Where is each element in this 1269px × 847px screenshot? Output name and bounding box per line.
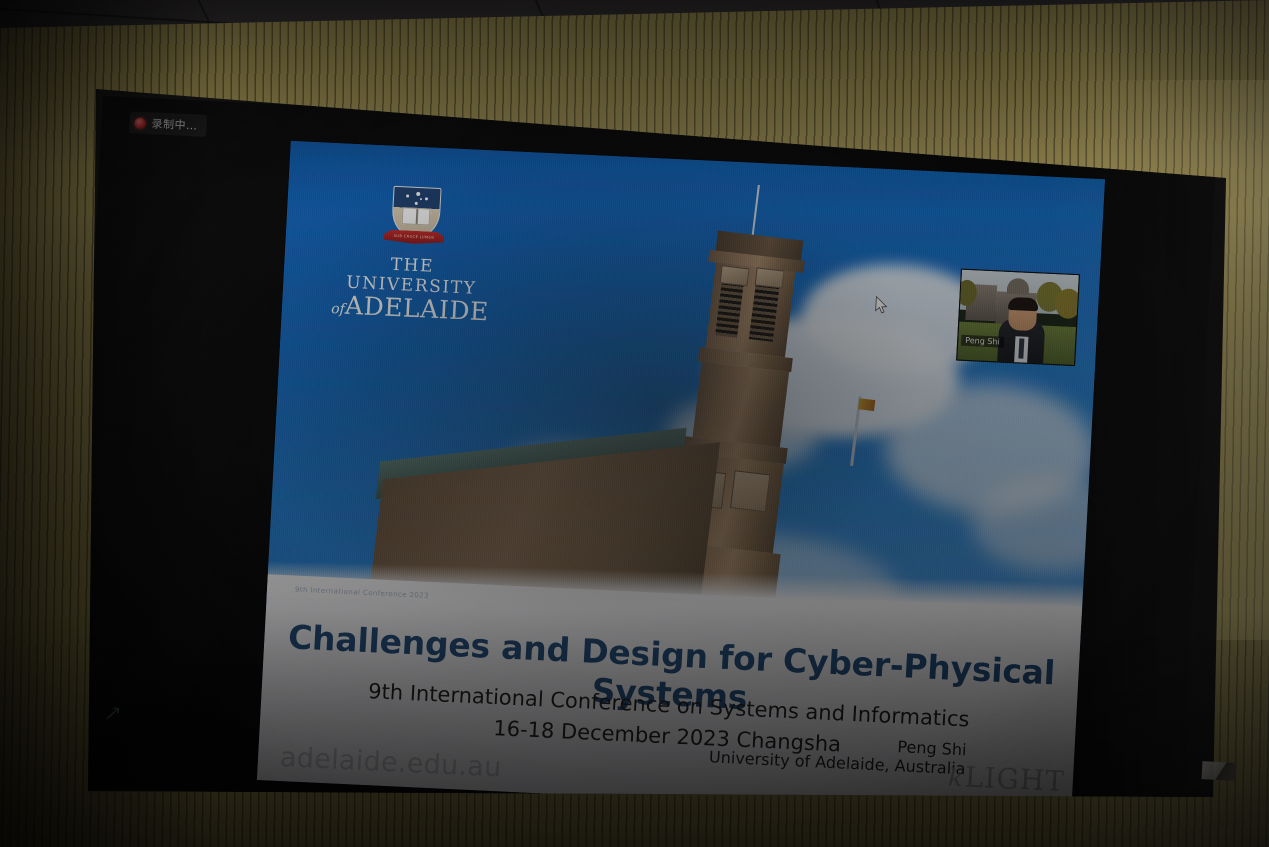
slide-text-band: 9th International Conference 2023 Challe… <box>257 574 1082 818</box>
slide-url: adelaide.edu.au <box>279 742 502 783</box>
participant-video-tile[interactable]: Peng Shi <box>956 269 1080 366</box>
screen-content: 录制中… <box>66 96 1216 838</box>
mouse-cursor <box>874 296 888 321</box>
recording-label: 录制中… <box>151 115 198 133</box>
presentation-slide: 9th International Conference 2023 Challe… <box>257 141 1105 818</box>
record-dot-icon <box>134 117 146 129</box>
crest-motto: SUB CRUCE LUMEN <box>384 233 444 240</box>
klight-rest: LIGHT <box>964 760 1066 798</box>
university-logo-of: of <box>331 301 345 318</box>
university-of-adelaide-crest-icon: SUB CRUCE LUMEN <box>383 185 446 252</box>
klight-watermark-logo: k LIGHT <box>947 760 1065 798</box>
klight-k: k <box>948 764 965 793</box>
bezel-sticker <box>1202 761 1236 781</box>
conference-room-photo: 录制中… <box>0 0 1269 847</box>
display-panel: 录制中… <box>66 96 1216 838</box>
participant-name-label: Peng Shi <box>961 335 1004 348</box>
university-logo: SUB CRUCE LUMEN THE UNIVERSITY ofADELAID… <box>325 183 500 327</box>
crest-motto-banner: SUB CRUCE LUMEN <box>384 229 445 245</box>
recording-indicator[interactable]: 录制中… <box>129 111 207 137</box>
expand-arrow-icon[interactable] <box>104 705 122 723</box>
